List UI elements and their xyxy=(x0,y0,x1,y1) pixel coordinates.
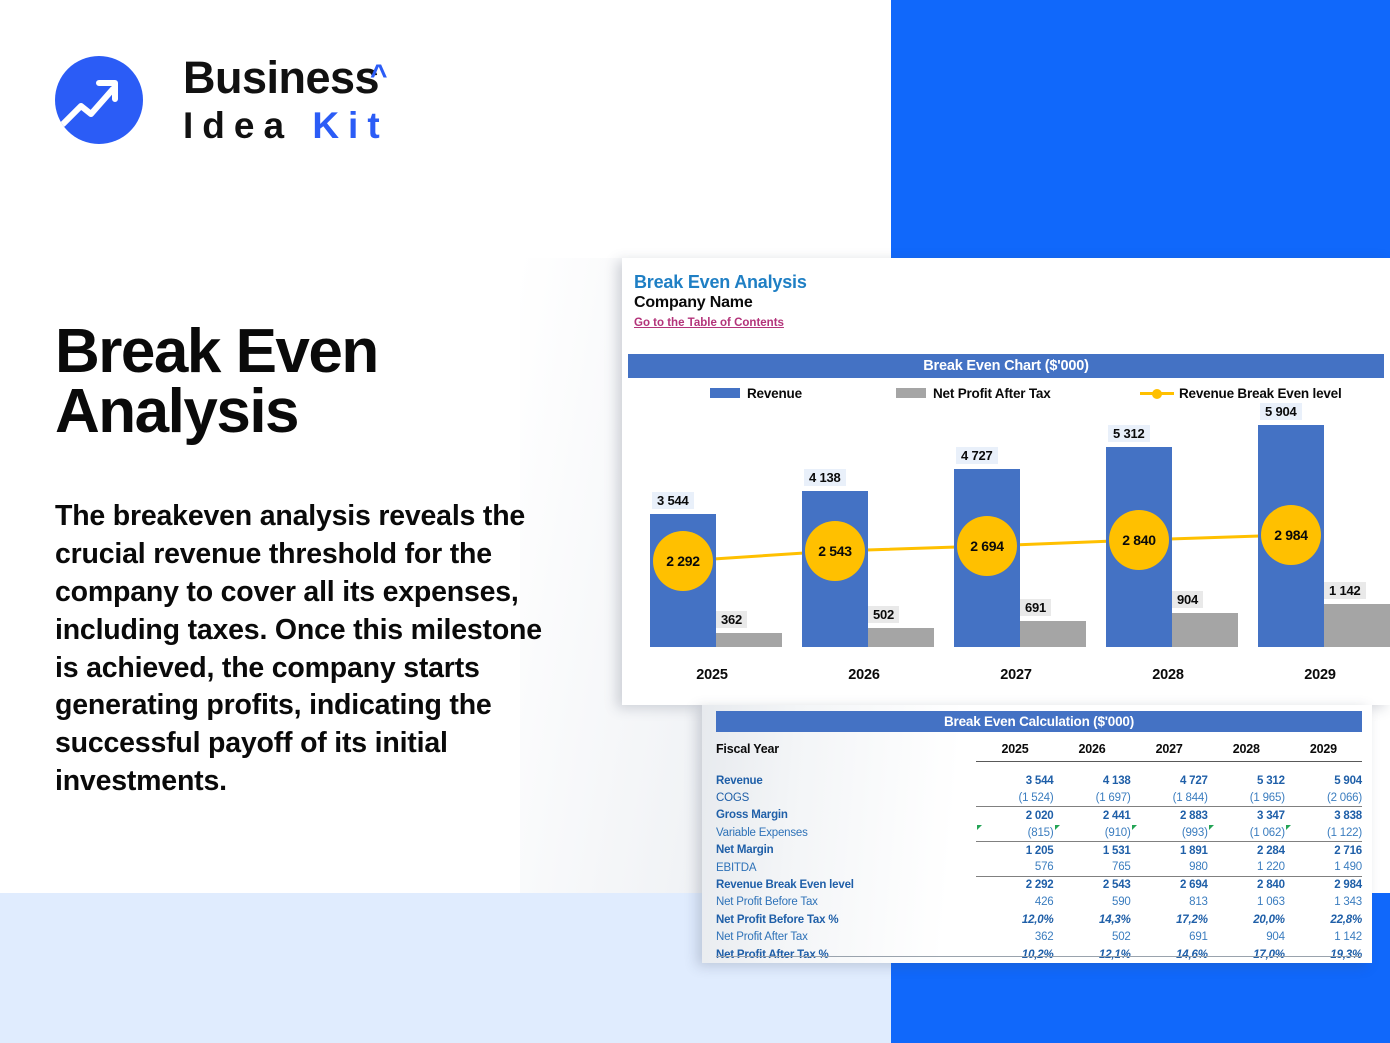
cell-cogs-2025: (1 524) xyxy=(976,789,1053,806)
background-block-top-right xyxy=(891,0,1390,258)
data-label-net-profit-2028: 904 xyxy=(1172,591,1203,608)
cell-net-profit-before-tax-2026: 14,3% xyxy=(1054,911,1131,928)
cell-variable-expenses-2025: (815) xyxy=(976,824,1053,841)
cell-net-profit-after-tax-2025: 362 xyxy=(976,929,1053,946)
table-row-gross-margin: Gross Margin2 0202 4412 8833 3473 838 xyxy=(716,807,1362,824)
cell-revenue-break-even-level-2026: 2 543 xyxy=(1054,876,1131,893)
row-label-gross-margin: Gross Margin xyxy=(716,807,976,824)
cell-ebitda-2025: 576 xyxy=(976,859,1053,876)
x-axis-label-2026: 2026 xyxy=(788,667,940,683)
column-header-2029: 2029 xyxy=(1285,737,1362,761)
cell-net-profit-after-tax-2028: 17,0% xyxy=(1208,946,1285,963)
cell-net-profit-before-tax-2027: 17,2% xyxy=(1131,911,1208,928)
cell-net-profit-after-tax-2025: 10,2% xyxy=(976,946,1053,963)
table-row-cogs: COGS(1 524)(1 697)(1 844)(1 965)(2 066) xyxy=(716,789,1362,806)
x-axis-label-2025: 2025 xyxy=(636,667,788,683)
bar-net-profit-after-tax-2027[interactable] xyxy=(1020,621,1086,647)
table-of-contents-link[interactable]: Go to the Table of Contents xyxy=(634,315,784,331)
cell-ebitda-2027: 980 xyxy=(1131,859,1208,876)
cell-net-profit-before-tax-2026: 590 xyxy=(1054,894,1131,911)
cell-net-profit-before-tax-2027: 813 xyxy=(1131,894,1208,911)
cell-revenue-break-even-level-2029: 2 984 xyxy=(1285,876,1362,893)
column-header-2028: 2028 xyxy=(1208,737,1285,761)
row-label-net-margin: Net Margin xyxy=(716,842,976,859)
chart-legend: Revenue Net Profit After Tax Revenue Bre… xyxy=(628,382,1384,404)
sheet-header: Break Even Analysis Company Name Go to t… xyxy=(634,271,807,331)
cell-cogs-2026: (1 697) xyxy=(1054,789,1131,806)
table-header-row: Fiscal Year20252026202720282029 xyxy=(716,737,1362,761)
cell-gross-margin-2027: 2 883 xyxy=(1131,807,1208,824)
table-row-variable-expenses: Variable Expenses(815)(910)(993)(1 062)(… xyxy=(716,824,1362,841)
legend-marker-break-even-icon xyxy=(1140,388,1174,398)
chart-panel: Break Even Analysis Company Name Go to t… xyxy=(622,258,1390,705)
cell-net-margin-2026: 1 531 xyxy=(1054,842,1131,859)
break-even-marker-2026[interactable]: 2 543 xyxy=(805,521,865,581)
data-label-net-profit-2029: 1 142 xyxy=(1324,582,1366,599)
bar-net-profit-after-tax-2025[interactable] xyxy=(716,633,782,647)
row-label-net-profit-before-tax: Net Profit Before Tax % xyxy=(716,911,976,928)
data-label-revenue-2027: 4 727 xyxy=(956,447,998,464)
row-label-net-profit-after-tax: Net Profit After Tax xyxy=(716,929,976,946)
cell-cogs-2028: (1 965) xyxy=(1208,789,1285,806)
table-row-net-margin: Net Margin1 2051 5311 8912 2842 716 xyxy=(716,842,1362,859)
cell-cogs-2027: (1 844) xyxy=(1131,789,1208,806)
cell-net-profit-after-tax-2026: 12,1% xyxy=(1054,946,1131,963)
cell-variable-expenses-2027: (993) xyxy=(1131,824,1208,841)
table-row-net-profit-after-tax: Net Profit After Tax %10,2%12,1%14,6%17,… xyxy=(716,946,1362,963)
data-label-net-profit-2025: 362 xyxy=(716,611,747,628)
cell-gross-margin-2028: 3 347 xyxy=(1208,807,1285,824)
cell-gross-margin-2026: 2 441 xyxy=(1054,807,1131,824)
cell-ebitda-2028: 1 220 xyxy=(1208,859,1285,876)
bar-net-profit-after-tax-2028[interactable] xyxy=(1172,613,1238,647)
cell-net-margin-2029: 2 716 xyxy=(1285,842,1362,859)
break-even-calculation-table: Fiscal Year20252026202720282029Revenue3 … xyxy=(716,737,1362,963)
table-row-revenue: Revenue3 5444 1384 7275 3125 904 xyxy=(716,772,1362,789)
cell-revenue-2025: 3 544 xyxy=(976,772,1053,789)
chart-group-2026: 4 1385022026 xyxy=(788,414,940,647)
sheet-title: Break Even Analysis xyxy=(634,271,807,293)
calculation-table-panel: Break Even Calculation ($'000) Fiscal Ye… xyxy=(702,705,1372,963)
row-label-ebitda: EBITDA xyxy=(716,859,976,876)
cell-net-profit-before-tax-2029: 1 343 xyxy=(1285,894,1362,911)
legend-item-revenue[interactable]: Revenue xyxy=(710,382,802,404)
bar-net-profit-after-tax-2026[interactable] xyxy=(868,628,934,647)
data-label-net-profit-2026: 502 xyxy=(868,606,899,623)
legend-item-net-profit-after-tax[interactable]: Net Profit After Tax xyxy=(896,382,1051,404)
row-label-net-profit-after-tax: Net Profit After Tax % xyxy=(716,946,976,963)
legend-label-break-even-level: Revenue Break Even level xyxy=(1179,386,1342,401)
page-title: Break Even Analysis xyxy=(55,322,525,441)
table-row-revenue-break-even-level: Revenue Break Even level2 2922 5432 6942… xyxy=(716,876,1362,893)
cell-revenue-2028: 5 312 xyxy=(1208,772,1285,789)
table-bottom-rule xyxy=(716,956,1362,957)
cell-revenue-2027: 4 727 xyxy=(1131,772,1208,789)
cell-net-profit-after-tax-2029: 1 142 xyxy=(1285,929,1362,946)
data-label-net-profit-2027: 691 xyxy=(1020,599,1051,616)
cell-revenue-break-even-level-2028: 2 840 xyxy=(1208,876,1285,893)
cell-net-profit-after-tax-2026: 502 xyxy=(1054,929,1131,946)
brand-name-line1: Business xyxy=(183,52,379,103)
comment-flag-icon xyxy=(1055,825,1060,830)
cell-revenue-break-even-level-2027: 2 694 xyxy=(1131,876,1208,893)
cell-net-profit-before-tax-2028: 1 063 xyxy=(1208,894,1285,911)
comment-flag-icon xyxy=(1286,825,1291,830)
data-label-revenue-2026: 4 138 xyxy=(804,469,846,486)
comment-flag-icon xyxy=(1209,825,1214,830)
comment-flag-icon xyxy=(1132,825,1137,830)
brand-name-accent: Kit xyxy=(312,105,388,146)
legend-swatch-revenue-icon xyxy=(710,388,740,398)
comment-flag-icon xyxy=(977,825,982,830)
column-header-2026: 2026 xyxy=(1054,737,1131,761)
cell-net-profit-before-tax-2029: 22,8% xyxy=(1285,911,1362,928)
sheet-subtitle: Company Name xyxy=(634,293,807,313)
cell-variable-expenses-2028: (1 062) xyxy=(1208,824,1285,841)
row-label-variable-expenses: Variable Expenses xyxy=(716,824,976,841)
cell-net-profit-after-tax-2027: 14,6% xyxy=(1131,946,1208,963)
cell-variable-expenses-2026: (910) xyxy=(1054,824,1131,841)
cell-gross-margin-2029: 3 838 xyxy=(1285,807,1362,824)
cell-net-margin-2027: 1 891 xyxy=(1131,842,1208,859)
chart-banner-title: Break Even Chart ($'000) xyxy=(628,354,1384,378)
cell-net-profit-after-tax-2029: 19,3% xyxy=(1285,946,1362,963)
cell-cogs-2029: (2 066) xyxy=(1285,789,1362,806)
x-axis-label-2027: 2027 xyxy=(940,667,1092,683)
column-header-2025: 2025 xyxy=(976,737,1053,761)
table-spacer-row xyxy=(716,761,1362,772)
legend-item-break-even-level[interactable]: Revenue Break Even level xyxy=(1140,382,1342,404)
bar-net-profit-after-tax-2029[interactable] xyxy=(1324,604,1390,647)
cell-ebitda-2026: 765 xyxy=(1054,859,1131,876)
break-even-marker-2025[interactable]: 2 292 xyxy=(653,531,713,591)
cell-revenue-2029: 5 904 xyxy=(1285,772,1362,789)
cell-net-profit-before-tax-2025: 426 xyxy=(976,894,1053,911)
row-label-net-profit-before-tax: Net Profit Before Tax xyxy=(716,894,976,911)
cell-variable-expenses-2029: (1 122) xyxy=(1285,824,1362,841)
accent-hat-icon: ^ xyxy=(370,50,387,102)
column-header-2027: 2027 xyxy=(1131,737,1208,761)
cell-gross-margin-2025: 2 020 xyxy=(976,807,1053,824)
cell-net-profit-after-tax-2028: 904 xyxy=(1208,929,1285,946)
table-row-net-profit-before-tax: Net Profit Before Tax %12,0%14,3%17,2%20… xyxy=(716,911,1362,928)
table-row-net-profit-before-tax: Net Profit Before Tax4265908131 0631 343 xyxy=(716,894,1362,911)
table-row-net-profit-after-tax: Net Profit After Tax3625026919041 142 xyxy=(716,929,1362,946)
table-row-ebitda: EBITDA5767659801 2201 490 xyxy=(716,859,1362,876)
break-even-marker-2029[interactable]: 2 984 xyxy=(1261,505,1321,565)
x-axis-label-2029: 2029 xyxy=(1244,667,1390,683)
cell-net-profit-before-tax-2028: 20,0% xyxy=(1208,911,1285,928)
legend-label-revenue: Revenue xyxy=(747,386,802,401)
row-label-cogs: COGS xyxy=(716,789,976,806)
cell-ebitda-2029: 1 490 xyxy=(1285,859,1362,876)
cell-net-margin-2025: 1 205 xyxy=(976,842,1053,859)
chart-plot-area: 3 54436220254 13850220264 72769120275 31… xyxy=(628,414,1390,699)
page-description: The breakeven analysis reveals the cruci… xyxy=(55,498,550,801)
brand-name-line2: Idea xyxy=(183,105,293,146)
cell-revenue-break-even-level-2025: 2 292 xyxy=(976,876,1053,893)
data-label-revenue-2025: 3 544 xyxy=(652,492,694,509)
row-label-revenue: Revenue xyxy=(716,772,976,789)
legend-label-net-profit-after-tax: Net Profit After Tax xyxy=(933,386,1051,401)
table-banner-title: Break Even Calculation ($'000) xyxy=(716,711,1362,732)
growth-arrow-icon xyxy=(55,56,143,144)
cell-net-margin-2028: 2 284 xyxy=(1208,842,1285,859)
data-label-revenue-2028: 5 312 xyxy=(1108,425,1150,442)
chart-group-2025: 3 5443622025 xyxy=(636,414,788,647)
row-label-revenue-break-even-level: Revenue Break Even level xyxy=(716,876,976,893)
data-label-revenue-2029: 5 904 xyxy=(1260,403,1302,420)
cell-net-profit-before-tax-2025: 12,0% xyxy=(976,911,1053,928)
break-even-marker-2028[interactable]: 2 840 xyxy=(1109,510,1169,570)
break-even-marker-2027[interactable]: 2 694 xyxy=(957,516,1017,576)
column-header-fiscal-year: Fiscal Year xyxy=(716,737,976,761)
x-axis-label-2028: 2028 xyxy=(1092,667,1244,683)
brand-logo: Business ^ Idea Kit xyxy=(55,52,435,152)
cell-revenue-2026: 4 138 xyxy=(1054,772,1131,789)
cell-net-profit-after-tax-2027: 691 xyxy=(1131,929,1208,946)
legend-swatch-net-profit-icon xyxy=(896,388,926,398)
